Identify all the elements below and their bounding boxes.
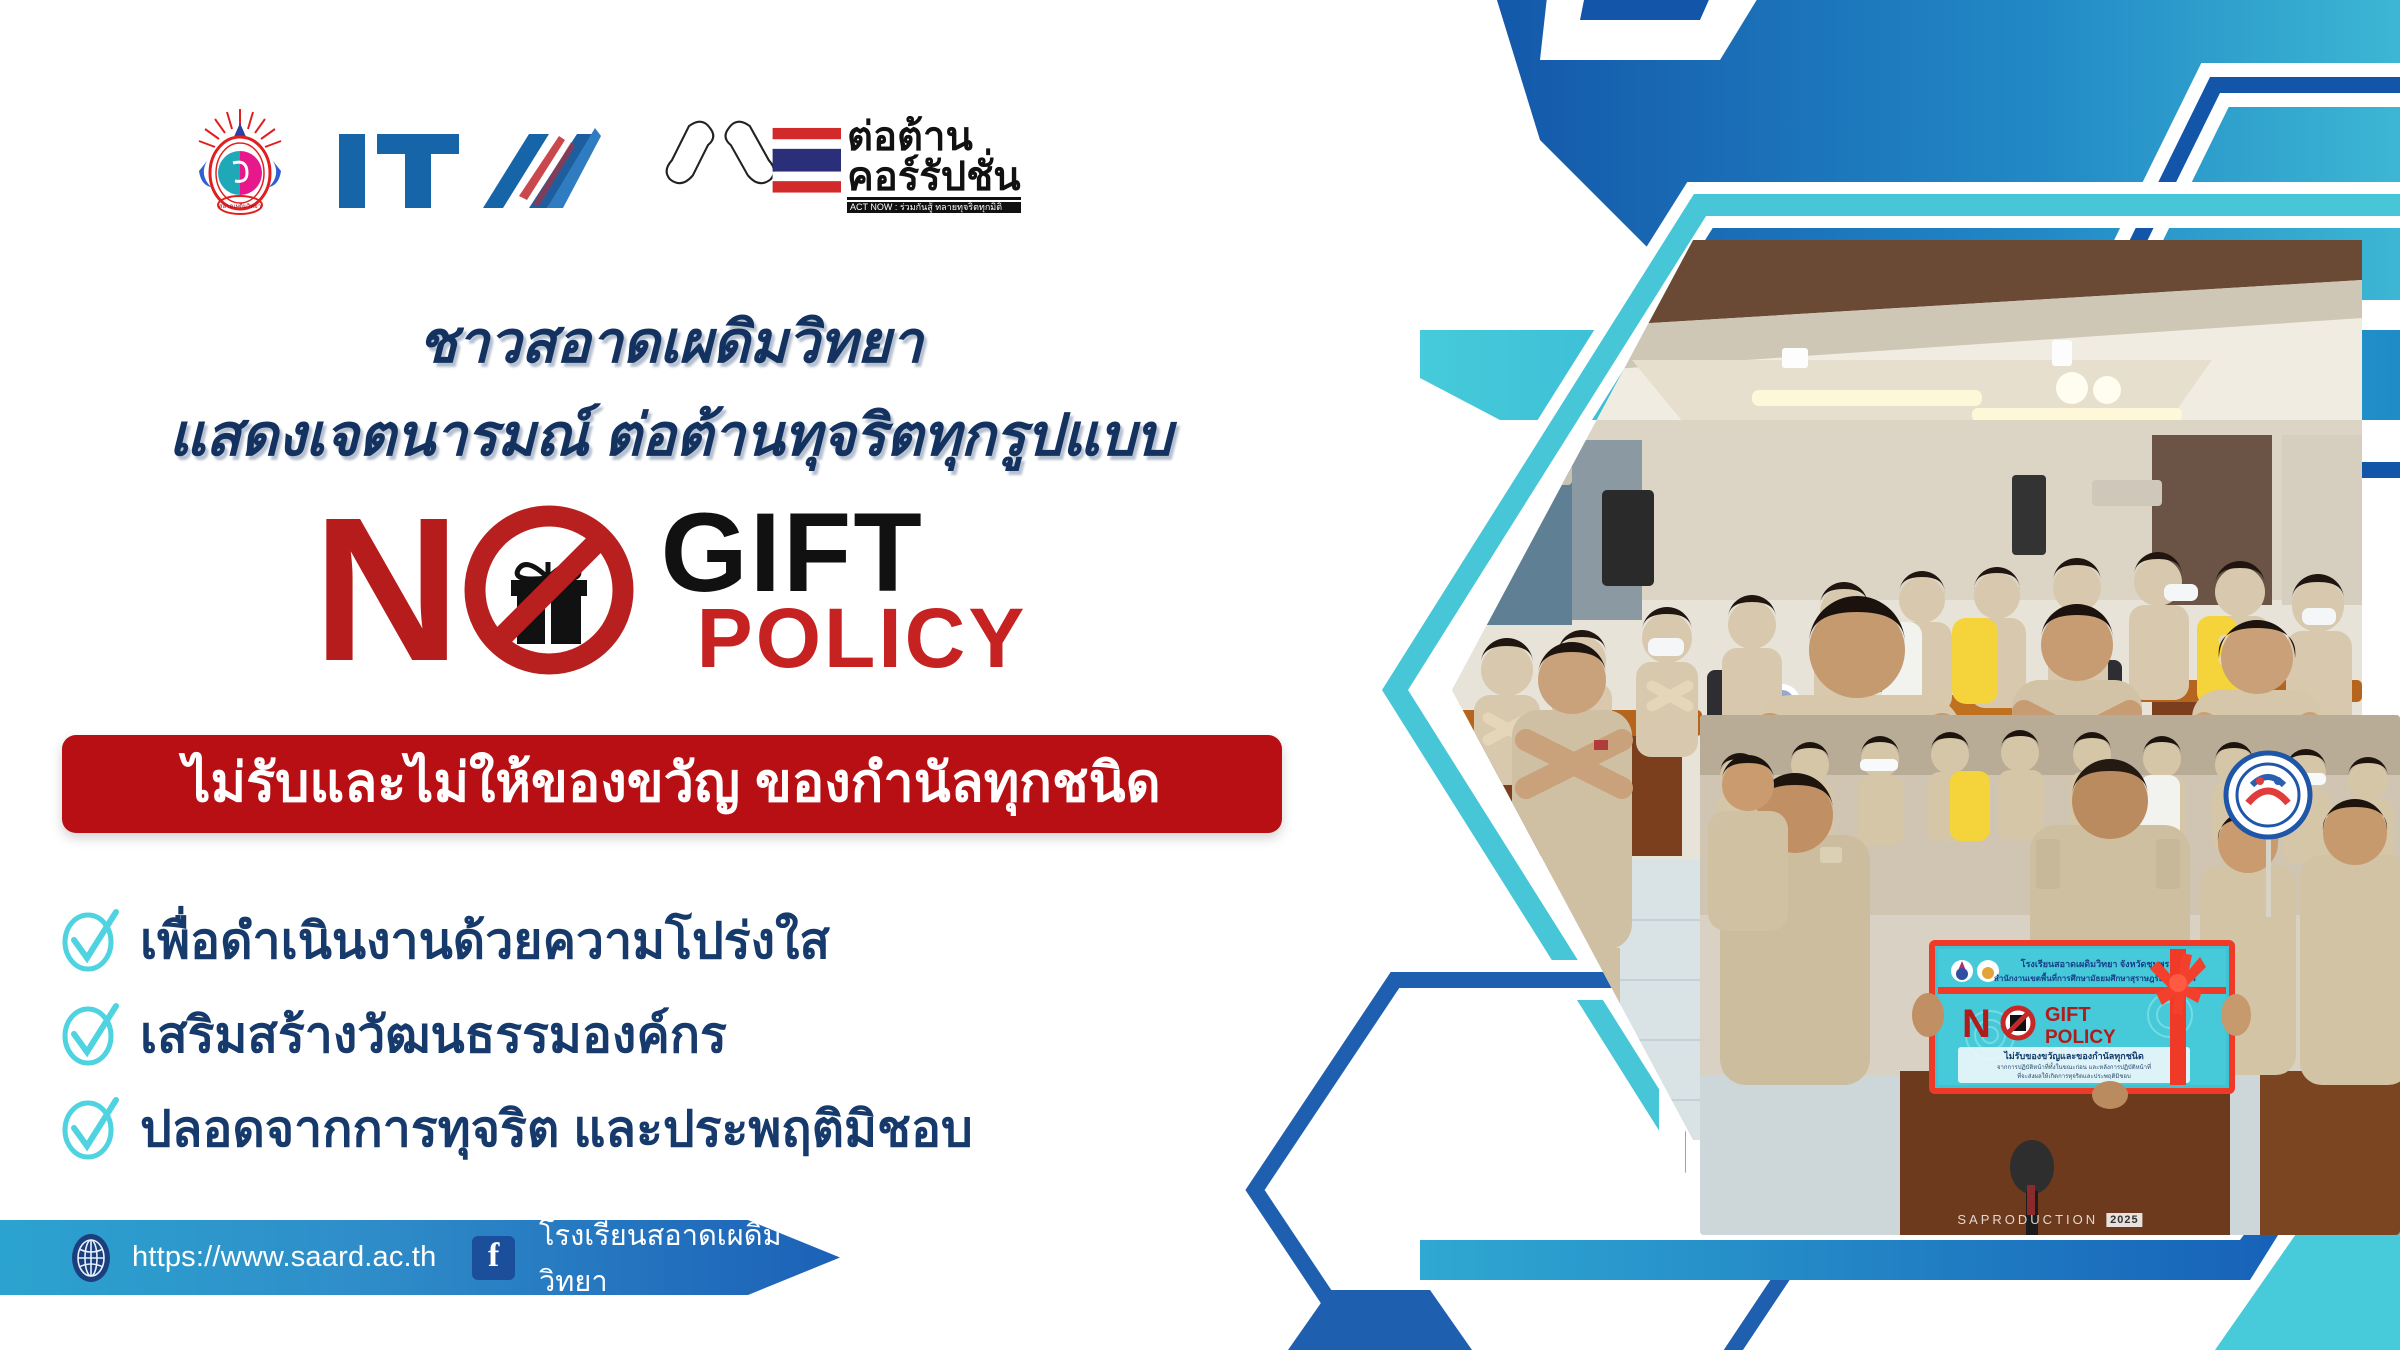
facebook-glyph: f bbox=[488, 1239, 499, 1273]
poster-canvas: โรงเรียนสอาดเผดิมวิทยา จังหวัดชุมพร สำนั… bbox=[0, 0, 2400, 1350]
anti-corruption-logo: ต่อต้าน คอร์รัปชั่น ACT NOW : ร่วมกันสู้… bbox=[651, 110, 1141, 220]
anti-corruption-line1: ต่อต้าน bbox=[847, 117, 1021, 157]
anti-corruption-tagline: ACT NOW : ร่วมกันสู้ ทลายทุจริตทุกมิติ bbox=[847, 202, 1021, 213]
no-gift-policy-lockup: N bbox=[0, 500, 1340, 680]
ita-logo: ITA ITA bbox=[333, 120, 613, 220]
svg-text:N: N bbox=[1962, 1002, 1991, 1046]
headline-line-2: แสดงเจตนารมณ์ ต่อต้านทุจริตทุกรูปแบบ bbox=[0, 388, 1340, 481]
award-handover-photo: โรงเรียนสอาดเผดิมวิทยา จังหวัดชุมพร สำนั… bbox=[1700, 715, 2400, 1235]
check-circle-icon bbox=[60, 1002, 122, 1068]
website-url-link[interactable]: https://www.saard.ac.th bbox=[132, 1241, 436, 1274]
anti-corruption-line2: คอร์รัปชั่น bbox=[847, 157, 1021, 200]
globe-icon bbox=[70, 1232, 112, 1284]
pledge-banner-text: ไม่รับและไม่ให้ของขวัญ ของกำนัลทุกชนิด bbox=[183, 739, 1160, 825]
facebook-page-name[interactable]: โรงเรียนสอาดเผดิมวิทยา bbox=[539, 1212, 840, 1304]
list-item-label: ปลอดจากการทุจริต และประพฤติมิชอบ bbox=[140, 1090, 973, 1169]
list-item-label: เสริมสร้างวัฒนธรรมองค์กร bbox=[140, 996, 727, 1075]
benefits-checklist: เพื่อดำเนินงานด้วยความโปร่งใส เสริมสร้าง… bbox=[60, 900, 1260, 1182]
facebook-icon[interactable]: f bbox=[472, 1236, 515, 1280]
list-item: เสริมสร้างวัฒนธรรมองค์กร bbox=[60, 994, 1260, 1076]
svg-text:GIFT: GIFT bbox=[2045, 1004, 2091, 1026]
headline-line-1: ชาวสอาดเผดิมวิทยา bbox=[0, 295, 1340, 388]
no-gift-word-gift: GIFT bbox=[661, 504, 1028, 603]
pledge-banner: ไม่รับและไม่ให้ของขวัญ ของกำนัลทุกชนิด bbox=[62, 735, 1282, 833]
svg-text:POLICY: POLICY bbox=[2045, 1027, 2116, 1048]
school-seal-logo: สอาดเผดิมวิทยา bbox=[185, 105, 295, 220]
list-item-label: เพื่อดำเนินงานด้วยความโปร่งใส bbox=[140, 902, 830, 981]
svg-text:ที่จะส่งผลให้เกิดการทุจริตและป: ที่จะส่งผลให้เกิดการทุจริตและประพฤติมิชอ… bbox=[2017, 1072, 2131, 1080]
svg-text:โรงเรียนสอาดเผดิมวิทยา จังหวั: โรงเรียนสอาดเผดิมวิทยา จังหวัดชุมพร bbox=[2020, 958, 2170, 970]
check-circle-icon bbox=[60, 1096, 122, 1162]
watermark-text: SAPRODUCTION bbox=[1957, 1212, 2098, 1227]
list-item: เพื่อดำเนินงานด้วยความโปร่งใส bbox=[60, 900, 1260, 982]
watermark-year: 2025 bbox=[2106, 1213, 2142, 1227]
check-circle-icon bbox=[60, 908, 122, 974]
left-content: สอาดเผดิมวิทยา ITA ITA bbox=[0, 0, 1340, 1350]
list-item: ปลอดจากการทุจริต และประพฤติมิชอบ bbox=[60, 1088, 1260, 1170]
footer-ribbon: https://www.saard.ac.th f โรงเรียนสอาดเผ… bbox=[0, 1220, 840, 1295]
no-gift-letter-n: N bbox=[313, 506, 455, 674]
photo-watermark: SAPRODUCTION 2025 bbox=[1957, 1212, 2142, 1227]
svg-text:ไม่รับของขวัญและของกำนัลทุกชนิ: ไม่รับของขวัญและของกำนัลทุกชนิด bbox=[2003, 1050, 2144, 1062]
no-gift-word-policy: POLICY bbox=[697, 602, 1028, 676]
logo-row: สอาดเผดิมวิทยา ITA ITA bbox=[185, 105, 1141, 220]
svg-text:สอาดเผดิมวิทยา: สอาดเผดิมวิทยา bbox=[219, 203, 261, 210]
no-gift-prohibition-icon bbox=[459, 500, 639, 680]
